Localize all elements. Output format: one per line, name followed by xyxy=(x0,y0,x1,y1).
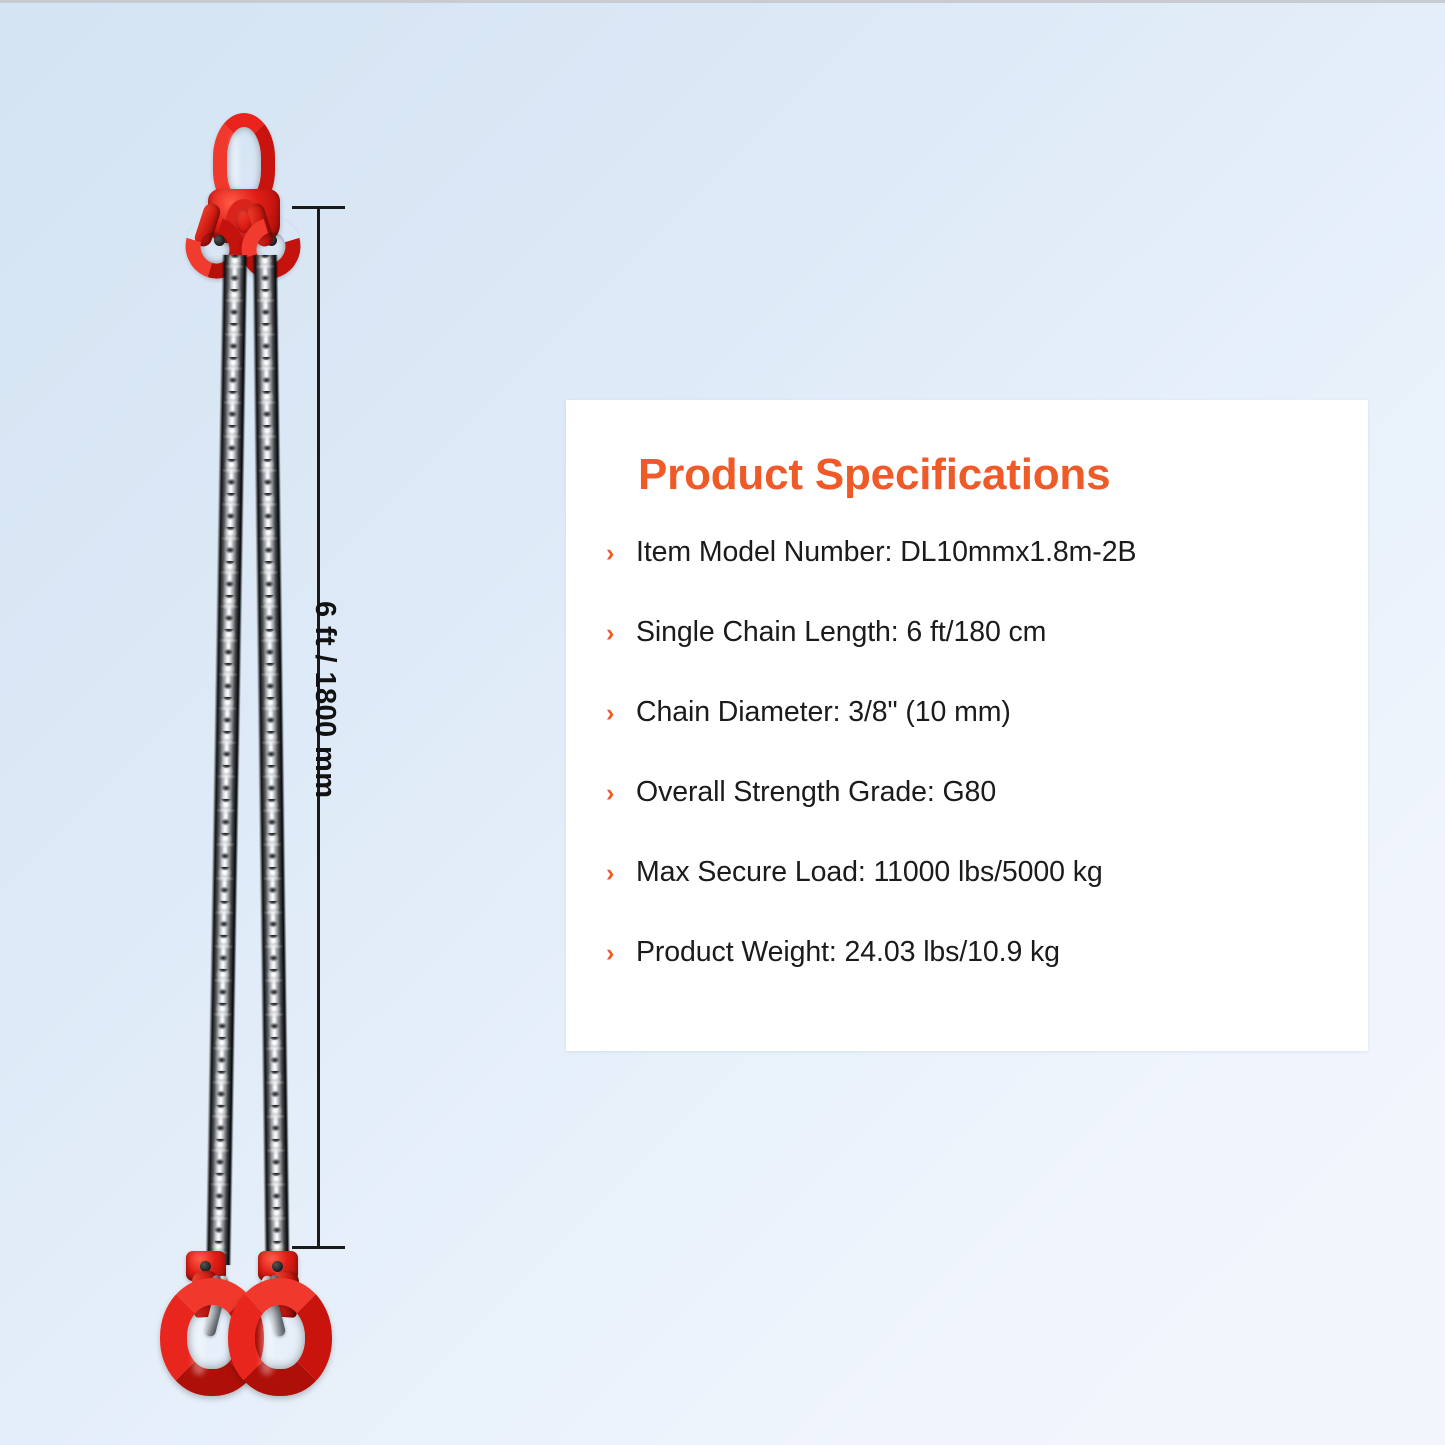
slip-hook-right-bowl xyxy=(228,1278,332,1396)
product-image xyxy=(0,3,560,1445)
spec-list-item: › Chain Diameter: 3/8" (10 mm) xyxy=(606,696,1348,776)
spec-panel: Product Specifications › Item Model Numb… xyxy=(566,400,1368,1051)
spec-list-item: › Max Secure Load: 11000 lbs/5000 kg xyxy=(606,856,1348,936)
spec-list: › Item Model Number: DL10mmx1.8m-2B › Si… xyxy=(606,536,1348,1016)
chevron-right-icon: › xyxy=(606,621,636,646)
spec-item-label: Product Weight: 24.03 lbs/10.9 kg xyxy=(636,936,1060,969)
spec-list-item: › Product Weight: 24.03 lbs/10.9 kg xyxy=(606,936,1348,1016)
spec-panel-title: Product Specifications xyxy=(638,450,1110,500)
chevron-right-icon: › xyxy=(606,941,636,966)
spec-list-item: › Item Model Number: DL10mmx1.8m-2B xyxy=(606,536,1348,616)
spec-item-label: Overall Strength Grade: G80 xyxy=(636,776,996,809)
chevron-right-icon: › xyxy=(606,701,636,726)
chevron-right-icon: › xyxy=(606,541,636,566)
spec-list-item: › Overall Strength Grade: G80 xyxy=(606,776,1348,856)
spec-item-label: Max Secure Load: 11000 lbs/5000 kg xyxy=(636,856,1103,889)
spec-item-label: Item Model Number: DL10mmx1.8m-2B xyxy=(636,536,1136,569)
chain-leg-left xyxy=(205,255,248,1265)
spec-item-label: Single Chain Length: 6 ft/180 cm xyxy=(636,616,1046,649)
chevron-right-icon: › xyxy=(606,861,636,886)
chain-leg-right xyxy=(252,255,290,1265)
product-spec-page: 6 ft / 1800 mm Product Specifications › … xyxy=(0,0,1445,1445)
chevron-right-icon: › xyxy=(606,781,636,806)
spec-list-item: › Single Chain Length: 6 ft/180 cm xyxy=(606,616,1348,696)
spec-item-label: Chain Diameter: 3/8" (10 mm) xyxy=(636,696,1011,729)
